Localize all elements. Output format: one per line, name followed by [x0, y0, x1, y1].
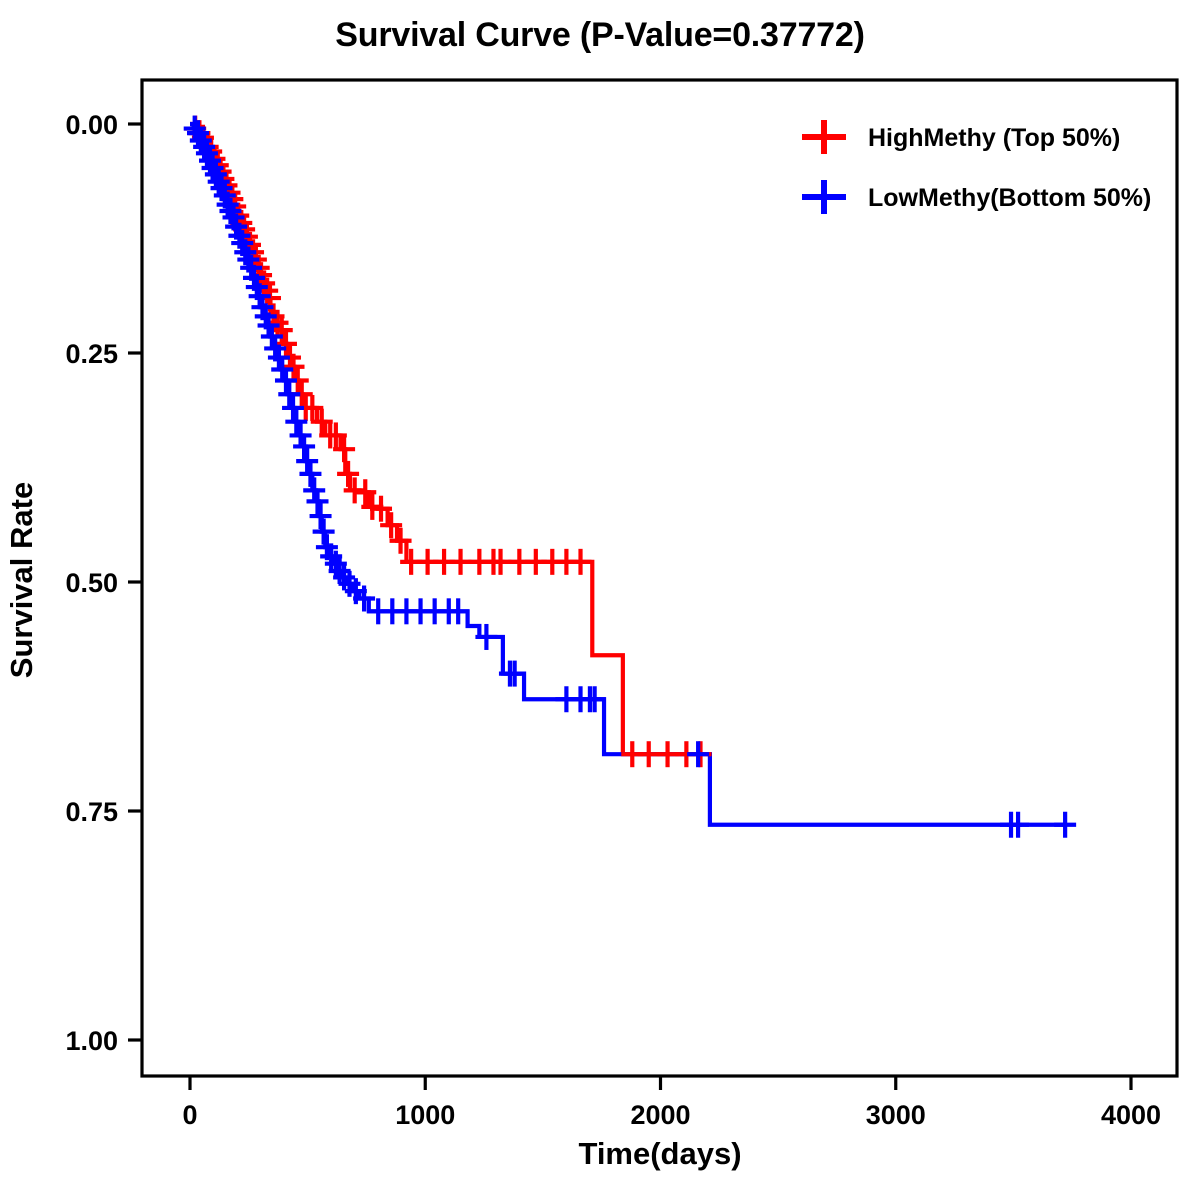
legend-label: LowMethy(Bottom 50%): [868, 184, 1151, 212]
survival-curve-plot: 01000200030004000 1.000.750.500.250.00 T…: [0, 0, 1200, 1200]
censor-marks: [184, 116, 1076, 838]
y-tick-label: 1.00: [65, 1026, 118, 1056]
x-axis-ticks: 01000200030004000: [182, 1076, 1161, 1130]
legend: HighMethy (Top 50%)LowMethy(Bottom 50%): [802, 120, 1151, 214]
y-axis-ticks: 1.000.750.500.250.00: [65, 110, 142, 1056]
x-tick-label: 1000: [395, 1100, 455, 1130]
y-tick-label: 0.75: [65, 797, 118, 827]
x-tick-label: 3000: [866, 1100, 926, 1130]
x-axis-title: Time(days): [578, 1136, 741, 1171]
y-tick-label: 0.00: [65, 110, 118, 140]
x-tick-label: 0: [182, 1100, 197, 1130]
y-tick-label: 0.25: [65, 339, 118, 369]
x-tick-label: 4000: [1101, 1100, 1161, 1130]
y-tick-label: 0.50: [65, 568, 118, 598]
legend-label: HighMethy (Top 50%): [868, 124, 1120, 152]
km-curve-high-methy: [190, 124, 703, 754]
x-tick-label: 2000: [630, 1100, 690, 1130]
y-axis-title: Survival Rate: [4, 482, 39, 678]
plot-frame: [142, 80, 1177, 1076]
chart-page: Survival Curve (P-Value=0.37772) 0100020…: [0, 0, 1200, 1200]
